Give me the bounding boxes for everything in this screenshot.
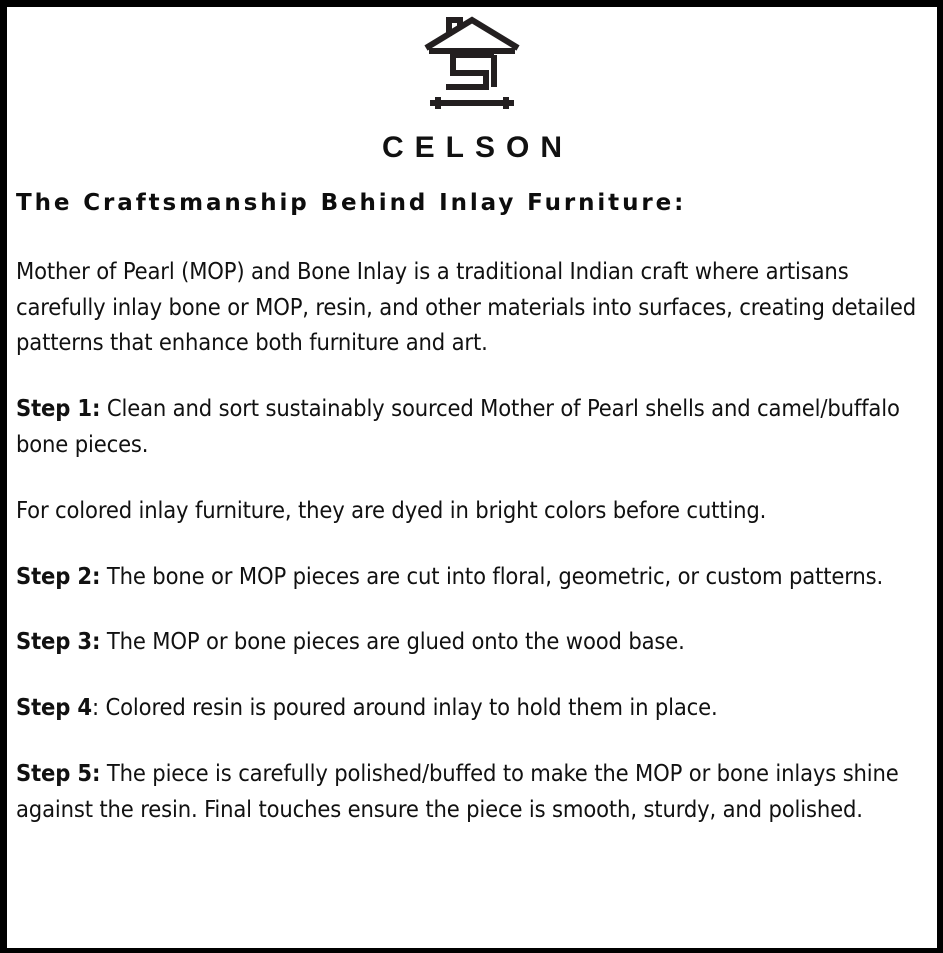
flyer-card: CELSON The Craftsmanship Behind Inlay Fu…	[0, 0, 943, 953]
step-1-label: Step 1:	[16, 394, 100, 422]
house-monogram-icon	[420, 15, 524, 117]
step-4-paragraph: Step 4: Colored resin is poured around i…	[16, 690, 924, 726]
step-3-text: The MOP or bone pieces are glued onto th…	[100, 627, 684, 655]
step-3-label: Step 3:	[16, 627, 100, 655]
step-5-label: Step 5:	[16, 759, 100, 787]
step-1-text: Clean and sort sustainably sourced Mothe…	[16, 394, 900, 458]
intro-paragraph: Mother of Pearl (MOP) and Bone Inlay is …	[16, 254, 924, 361]
step-2-paragraph: Step 2: The bone or MOP pieces are cut i…	[16, 559, 924, 595]
step-2-label: Step 2:	[16, 562, 100, 590]
step-4-colon: :	[92, 693, 99, 721]
step-5-paragraph: Step 5: The piece is carefully polished/…	[16, 756, 924, 828]
step-4-label: Step 4	[16, 693, 92, 721]
flyer-content: The Craftsmanship Behind Inlay Furniture…	[7, 189, 937, 828]
step-4-text: Colored resin is poured around inlay to …	[99, 693, 718, 721]
step-5-text: The piece is carefully polished/buffed t…	[16, 759, 899, 823]
step-1-paragraph: Step 1: Clean and sort sustainably sourc…	[16, 391, 924, 463]
step-2-text: The bone or MOP pieces are cut into flor…	[100, 562, 883, 590]
page-title: The Craftsmanship Behind Inlay Furniture…	[16, 189, 924, 218]
colored-inlay-note: For colored inlay furniture, they are dy…	[16, 493, 924, 529]
brand-wordmark: CELSON	[371, 133, 573, 163]
step-3-paragraph: Step 3: The MOP or bone pieces are glued…	[16, 624, 924, 660]
brand-logo-block: CELSON	[7, 7, 937, 163]
